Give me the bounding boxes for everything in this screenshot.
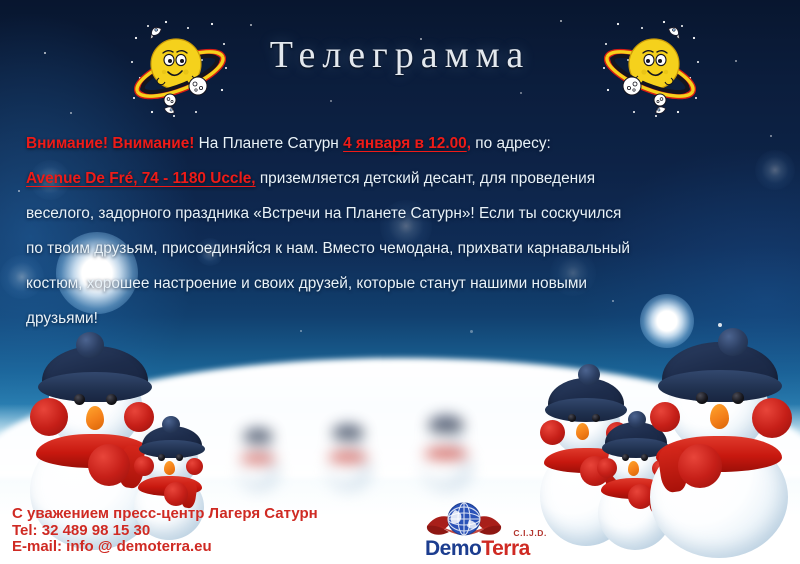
snowman-distant-1 [232,430,286,492]
body-line-1-mid: На Планете Сатурн [194,135,343,152]
footer-email[interactable]: E-mail: info @ demoterra.eu [12,539,318,556]
body-line-4: по твоим друзьям, присоединяйся к нам. В… [26,231,778,266]
body-line-2: Avenue De Fré, 74 - 1180 Uccle, приземля… [26,161,778,196]
snowman-large-right [644,336,800,548]
footer-phone: Tel: 32 489 98 15 30 [12,523,318,540]
body-line-2-tail: приземляется детский десант, для проведе… [256,170,596,187]
announcement-body: Внимание! Внимание! На Планете Сатурн 4 … [26,126,778,336]
poster-title: Телеграмма [0,33,800,77]
footer-contact-block: С уважением пресс-центр Лагеря Сатурн Te… [12,506,318,556]
snowman-distant-3 [414,418,480,492]
body-line-6: друзьями! [26,301,778,336]
telegram-poster: Телеграмма Внимание! Внимание! На Планет… [0,0,800,564]
event-address: Avenue De Fré, 74 - 1180 Uccle, [26,170,256,187]
body-line-5: костюм, хорошее настроение и своих друзе… [26,266,778,301]
body-line-3: веселого, задорного праздника «Встречи н… [26,196,778,231]
logo-word-demo: Demo [425,537,481,560]
logo-wordmark: DemoTerra [425,537,530,561]
alert-word-2: Внимание! [112,135,194,152]
demoterra-logo[interactable]: C.I.J.D. DemoTerra [425,506,545,560]
snowman-distant-2 [320,426,378,492]
alert-word-1: Внимание! [26,135,108,152]
footer-signature: С уважением пресс-центр Лагеря Сатурн [12,506,318,523]
body-line-1-tail: по адресу: [471,135,551,152]
logo-word-terra: Terra [481,537,529,560]
event-datetime: 4 января в 12.00 [343,135,467,152]
body-line-1: Внимание! Внимание! На Планете Сатурн 4 … [26,126,778,161]
